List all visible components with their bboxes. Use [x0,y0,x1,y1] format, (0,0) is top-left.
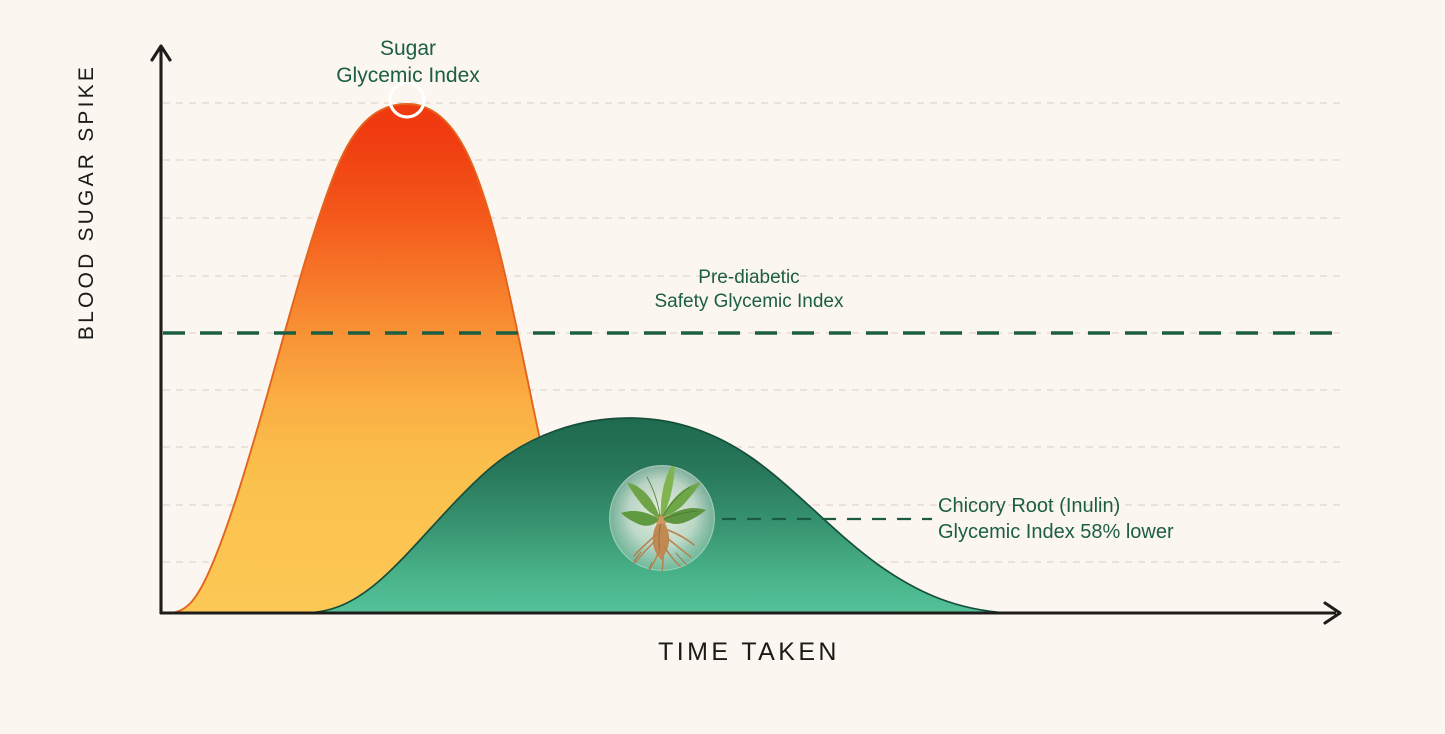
chart-canvas [0,0,1445,734]
threshold-label-line1: Pre-diabetic [698,267,799,288]
chicory-root-label: Chicory Root (Inulin) Glycemic Index 58%… [938,494,1174,545]
sugar-label-line2: Glycemic Index [336,63,480,90]
threshold-label-line2: Safety Glycemic Index [654,290,843,314]
chart-container: Sugar Glycemic Index Pre-diabetic Safety… [0,0,1445,734]
chicory-label-line1: Chicory Root (Inulin) [938,495,1120,517]
pre-diabetic-threshold-label: Pre-diabetic Safety Glycemic Index [654,266,843,315]
chicory-label-line2: Glycemic Index 58% lower [938,520,1174,546]
sugar-glycemic-index-label: Sugar Glycemic Index [336,36,480,90]
x-axis-title: TIME TAKEN [658,638,840,667]
sugar-label-line1: Sugar [380,37,436,60]
y-axis-title: BLOOD SUGAR SPIKE [75,62,99,342]
